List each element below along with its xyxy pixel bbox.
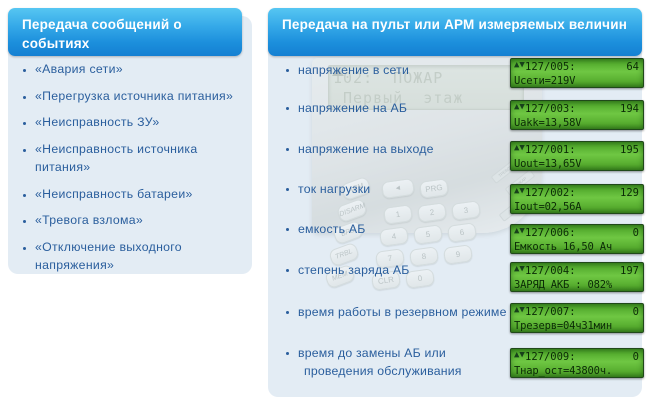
readout-row-top: ▲▼ 127/007: 0 (514, 305, 640, 319)
list-item: напряжение на выходе (283, 141, 518, 157)
list-item: напряжение в сети (283, 62, 518, 78)
right-panel-title: Передача на пульт или АРМ измеряемых вел… (268, 8, 642, 56)
slide-root: Передача сообщений о событиях «Авария се… (0, 0, 650, 407)
readout-text: Трезерв=04ч31мин (514, 319, 640, 333)
readout-display-3: ▲▼ 127/002: 129 Iout=02,56A (510, 184, 644, 214)
readout-text: Тнар_ост=43800ч. (514, 364, 640, 378)
updown-arrow-icon: ▲▼ (514, 102, 522, 112)
right-panel-measurement-list: напряжение в сети напряжение на АБ напря… (283, 62, 518, 379)
readout-value: 0 (633, 350, 640, 364)
list-item: «Перегрузка источника питания» (20, 89, 245, 104)
readout-address: 127/009: (523, 350, 633, 364)
list-item: «Неисправность ЗУ» (20, 115, 245, 130)
list-item: «Авария сети» (20, 62, 245, 77)
readout-display-1: ▲▼ 127/003: 194 Uakk=13,58V (510, 100, 644, 130)
readout-display-7: ▲▼ 127/009: 0 Тнар_ост=43800ч. (510, 348, 644, 378)
readout-address: 127/001: (523, 143, 620, 157)
list-item: «Неисправность батареи» (20, 187, 245, 202)
readout-value: 194 (620, 102, 640, 116)
list-item: ток нагрузки (283, 181, 518, 197)
readout-address: 127/004: (523, 264, 620, 278)
list-item-continuation: питания» (20, 160, 245, 175)
readout-value: 129 (620, 186, 640, 200)
readout-value: 0 (633, 305, 640, 319)
readout-row-top: ▲▼ 127/002: 129 (514, 186, 640, 200)
readout-address: 127/006: (523, 226, 633, 240)
readout-text: Uakk=13,58V (514, 116, 640, 130)
updown-arrow-icon: ▲▼ (514, 226, 522, 236)
readout-value: 197 (620, 264, 640, 278)
readout-value: 195 (620, 143, 640, 157)
readout-display-4: ▲▼ 127/006: 0 Емкость 16,50 Ач (510, 224, 644, 254)
readout-address: 127/005: (523, 60, 626, 74)
readout-row-top: ▲▼ 127/005: 64 (514, 60, 640, 74)
list-item: «Неисправность источника (20, 142, 245, 157)
list-item: степень заряда АБ (283, 262, 518, 278)
list-item: напряжение на АБ (283, 100, 518, 116)
updown-arrow-icon: ▲▼ (514, 350, 522, 360)
list-item: емкость АБ (283, 221, 518, 237)
readout-address: 127/002: (523, 186, 620, 200)
readout-display-2: ▲▼ 127/001: 195 Uout=13,65V (510, 141, 644, 171)
readout-address: 127/007: (523, 305, 633, 319)
readout-text: Iout=02,56A (514, 200, 640, 214)
readout-text: ЗАРЯД АКБ : 082% (514, 278, 640, 292)
left-panel-title: Передача сообщений о событиях (8, 8, 242, 56)
readout-address: 127/003: (523, 102, 620, 116)
list-item: время до замены АБ или (283, 345, 518, 361)
updown-arrow-icon: ▲▼ (514, 305, 522, 315)
readout-row-top: ▲▼ 127/009: 0 (514, 350, 640, 364)
left-panel-event-list: «Авария сети» «Перегрузка источника пита… (20, 62, 245, 285)
readout-row-top: ▲▼ 127/003: 194 (514, 102, 640, 116)
readout-display-0: ▲▼ 127/005: 64 Uсети=219V (510, 58, 644, 88)
list-item: «Отключение выходного (20, 240, 245, 255)
readout-row-top: ▲▼ 127/006: 0 (514, 226, 640, 240)
readout-text: Uсети=219V (514, 74, 640, 88)
list-item: время работы в резервном режиме (283, 304, 518, 320)
readout-row-top: ▲▼ 127/004: 197 (514, 264, 640, 278)
list-item-continuation: напряжения» (20, 258, 245, 273)
list-item: «Тревога взлома» (20, 213, 245, 228)
readout-display-6: ▲▼ 127/007: 0 Трезерв=04ч31мин (510, 303, 644, 333)
readout-text: Uout=13,65V (514, 157, 640, 171)
updown-arrow-icon: ▲▼ (514, 60, 522, 70)
readout-value: 64 (626, 60, 640, 74)
updown-arrow-icon: ▲▼ (514, 186, 522, 196)
list-item-continuation: проведения обслуживания (283, 363, 518, 379)
updown-arrow-icon: ▲▼ (514, 264, 522, 274)
readout-value: 0 (633, 226, 640, 240)
updown-arrow-icon: ▲▼ (514, 143, 522, 153)
readout-text: Емкость 16,50 Ач (514, 240, 640, 254)
readout-display-5: ▲▼ 127/004: 197 ЗАРЯД АКБ : 082% (510, 262, 644, 292)
readout-row-top: ▲▼ 127/001: 195 (514, 143, 640, 157)
